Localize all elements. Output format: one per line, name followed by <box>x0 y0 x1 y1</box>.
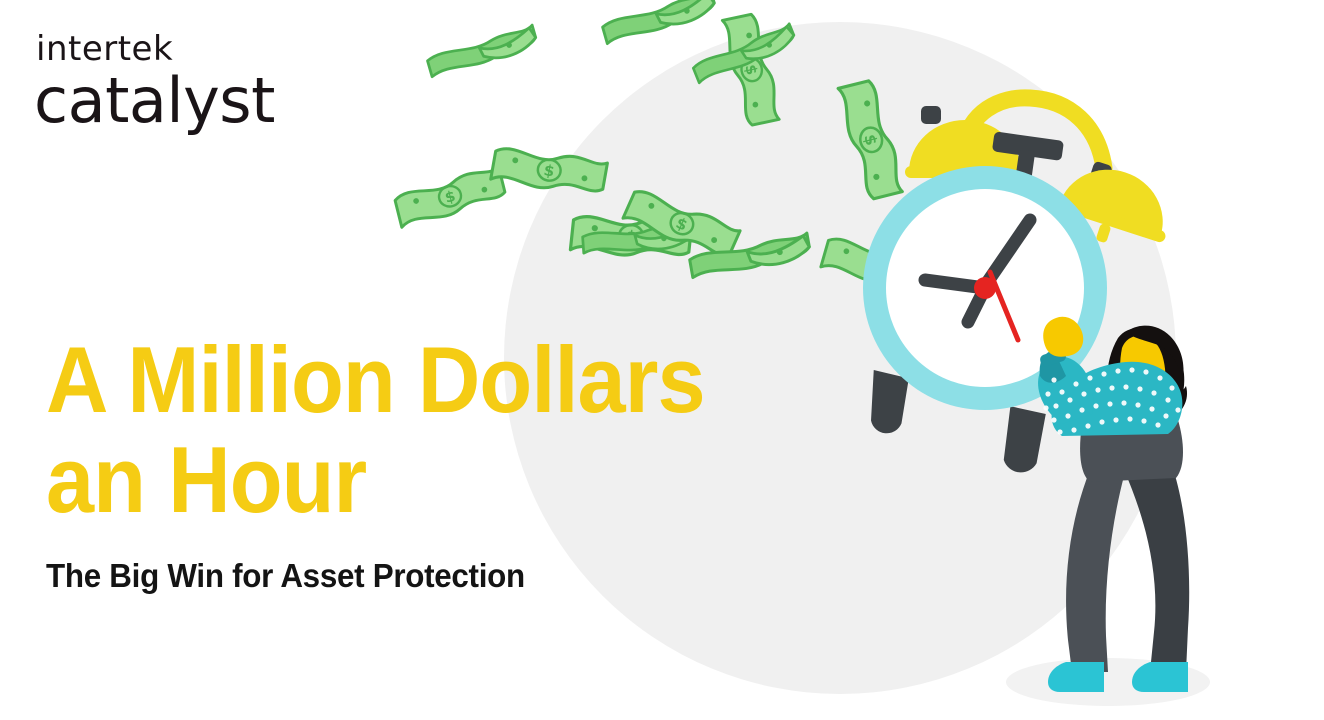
slide-canvas: $ $ <box>0 0 1324 720</box>
page-subtitle: The Big Win for Asset Protection <box>46 557 525 595</box>
money-bill <box>491 143 608 199</box>
brand-logo[interactable]: intertek catalyst <box>34 32 334 133</box>
money-bill <box>601 0 717 45</box>
woman-figure <box>1038 317 1189 692</box>
money-bill <box>426 25 539 78</box>
headline-line-2: an Hour <box>46 430 764 530</box>
money-group <box>393 0 935 297</box>
figure-leg-back <box>1066 470 1124 672</box>
money-bill <box>838 79 904 201</box>
logo-catalyst-text: catalyst <box>34 68 334 133</box>
headline-line-1: A Million Dollars <box>46 330 764 430</box>
page-title: A Million Dollars an Hour <box>46 330 826 529</box>
logo-intertek-text: intertek <box>36 32 334 66</box>
clock-center-pin <box>974 277 996 299</box>
figure-leg-front <box>1124 466 1189 672</box>
